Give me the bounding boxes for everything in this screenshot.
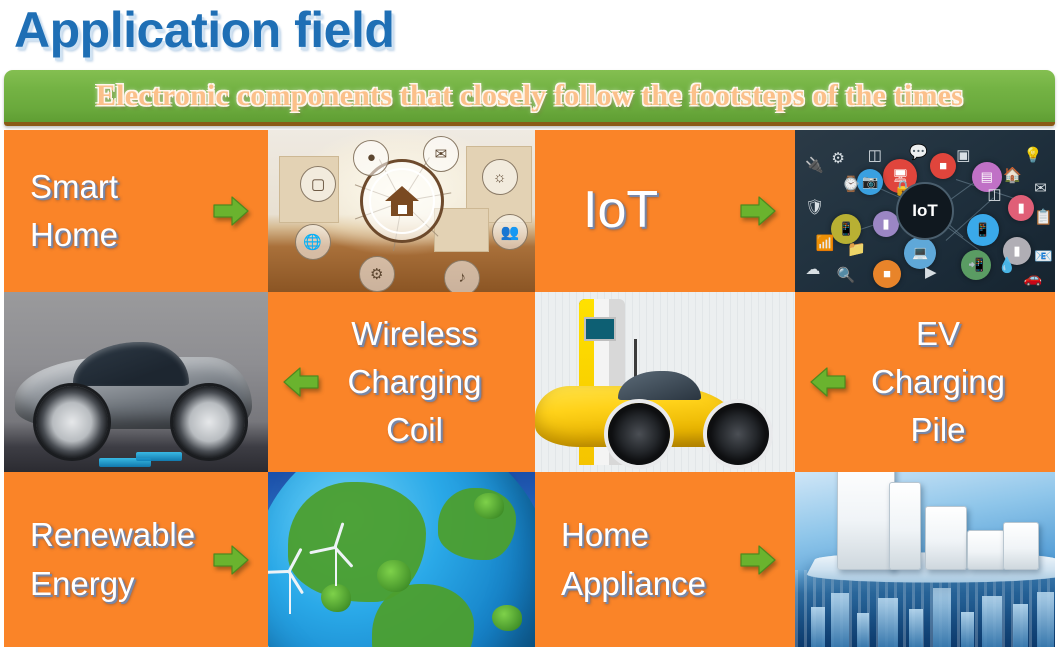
droplet-icon: 💧 bbox=[998, 256, 1017, 274]
gears-icon: ⚙ bbox=[831, 149, 844, 167]
wifi-icon: 📶 bbox=[816, 234, 835, 252]
car-wheel-rear bbox=[707, 403, 769, 465]
lock-icon: ▢ bbox=[300, 166, 336, 202]
arrow-right-icon bbox=[212, 543, 250, 577]
home-appliance-text: Home Appliance bbox=[561, 511, 706, 607]
orange-node-icon: ■ bbox=[873, 260, 901, 288]
arrow-left-icon bbox=[809, 365, 847, 399]
washer-icon bbox=[1003, 522, 1039, 570]
page-title: Application field bbox=[14, 2, 394, 60]
envelope-icon: ✉ bbox=[1034, 179, 1047, 197]
people-icon: 👥 bbox=[492, 214, 528, 250]
wireless-charging-coil-text: Wireless Charging Coil bbox=[320, 310, 509, 455]
smart-home-image: ● ✉ ▢ ☼ 👥 🌐 ⚙ ♪ bbox=[268, 130, 535, 292]
charging-pad bbox=[136, 452, 182, 461]
arrow-right-icon bbox=[739, 194, 777, 228]
iot-label[interactable]: IoT bbox=[535, 130, 795, 292]
charging-pile-screen bbox=[584, 317, 616, 341]
wireless-charging-coil-label[interactable]: Wireless Charging Coil bbox=[268, 292, 535, 472]
car-wheel-front bbox=[608, 403, 670, 465]
iot-image: IoT 🖥 📷 ■ ▤ 📱 ▮ 💻 📱 📲 ■ ▮ ▮ 🔌 ⚙ ◫ 💬 ▣ 💡 … bbox=[795, 130, 1055, 292]
home-appliance-label[interactable]: Home Appliance bbox=[535, 472, 795, 647]
refrigerator-icon bbox=[837, 472, 895, 570]
tagline-banner: Electronic components that closely follo… bbox=[4, 70, 1055, 126]
application-field-grid: Smart Home ● ✉ ▢ ☼ 👥 🌐 ⚙ ♪ IoT bbox=[4, 130, 1055, 647]
arrow-right-icon bbox=[212, 194, 250, 228]
ev-charging-pile-label[interactable]: EV Charging Pile bbox=[795, 292, 1055, 472]
tree-icon bbox=[492, 605, 522, 631]
chat-icon: ● bbox=[353, 140, 389, 176]
renewable-energy-text: Renewable Energy bbox=[30, 511, 195, 607]
arrow-right-icon bbox=[739, 543, 777, 577]
renewable-energy-image bbox=[268, 472, 535, 647]
shield-icon: 🛡 bbox=[805, 198, 824, 216]
smart-home-label-text: Smart Home bbox=[30, 163, 118, 259]
battery-node-icon: ■ bbox=[930, 153, 956, 179]
ev-charging-image bbox=[535, 292, 795, 472]
bulb-icon: 💡 bbox=[1024, 146, 1043, 164]
projector-icon: ◫ bbox=[987, 185, 1001, 203]
lamp-icon: ☼ bbox=[482, 159, 518, 195]
range-hood-icon bbox=[925, 506, 967, 570]
car-wheel-front bbox=[36, 386, 108, 458]
iot-center-node: IoT bbox=[896, 182, 954, 240]
device-node-icon: ▮ bbox=[873, 211, 899, 237]
cloud-icon: ☁ bbox=[805, 260, 820, 278]
database-icon: ◫ bbox=[868, 146, 882, 164]
home-appliance-image bbox=[795, 472, 1055, 647]
red-device-node-icon: ▮ bbox=[1008, 195, 1034, 221]
microwave-icon bbox=[967, 530, 1005, 570]
water-heater-icon bbox=[889, 482, 921, 570]
home-icon: 🏠 bbox=[1003, 166, 1022, 184]
globe-icon: 🌐 bbox=[295, 224, 331, 260]
mail-icon: ✉ bbox=[423, 136, 459, 172]
mail-open-icon: 📧 bbox=[1034, 247, 1053, 265]
safe-icon: ▣ bbox=[956, 146, 970, 164]
tagline-text: Electronic components that closely follo… bbox=[4, 79, 1055, 113]
speech-bubble-icon: 💬 bbox=[909, 143, 928, 161]
arrow-left-icon bbox=[282, 365, 320, 399]
car-cabin bbox=[73, 342, 189, 385]
search-icon: 🔍 bbox=[837, 266, 856, 284]
smart-home-label[interactable]: Smart Home bbox=[4, 130, 268, 292]
tablet-node-icon: 📱 bbox=[967, 214, 999, 246]
ev-charging-pile-text: EV Charging Pile bbox=[847, 310, 1029, 455]
tree-icon bbox=[474, 493, 504, 519]
media-icon: ▶ bbox=[925, 263, 937, 281]
watch-icon: ⌚ bbox=[842, 175, 861, 193]
tree-icon bbox=[377, 560, 411, 592]
iot-label-text: IoT bbox=[583, 173, 658, 249]
renewable-energy-label[interactable]: Renewable Energy bbox=[4, 472, 268, 647]
car-icon: 🚗 bbox=[1024, 269, 1043, 287]
clipboard-icon: 📋 bbox=[1034, 208, 1053, 226]
camera-node-icon: 📷 bbox=[857, 169, 883, 195]
folder-icon: 📁 bbox=[847, 240, 866, 258]
gear-icon: ⚙ bbox=[359, 256, 395, 292]
tree-icon bbox=[321, 584, 351, 612]
wireless-charging-image bbox=[4, 292, 268, 472]
car-wheel-rear bbox=[173, 386, 245, 458]
smartphone-node-icon: 📲 bbox=[961, 250, 991, 280]
music-icon: ♪ bbox=[444, 260, 480, 292]
plug-icon: 🔌 bbox=[805, 156, 824, 174]
